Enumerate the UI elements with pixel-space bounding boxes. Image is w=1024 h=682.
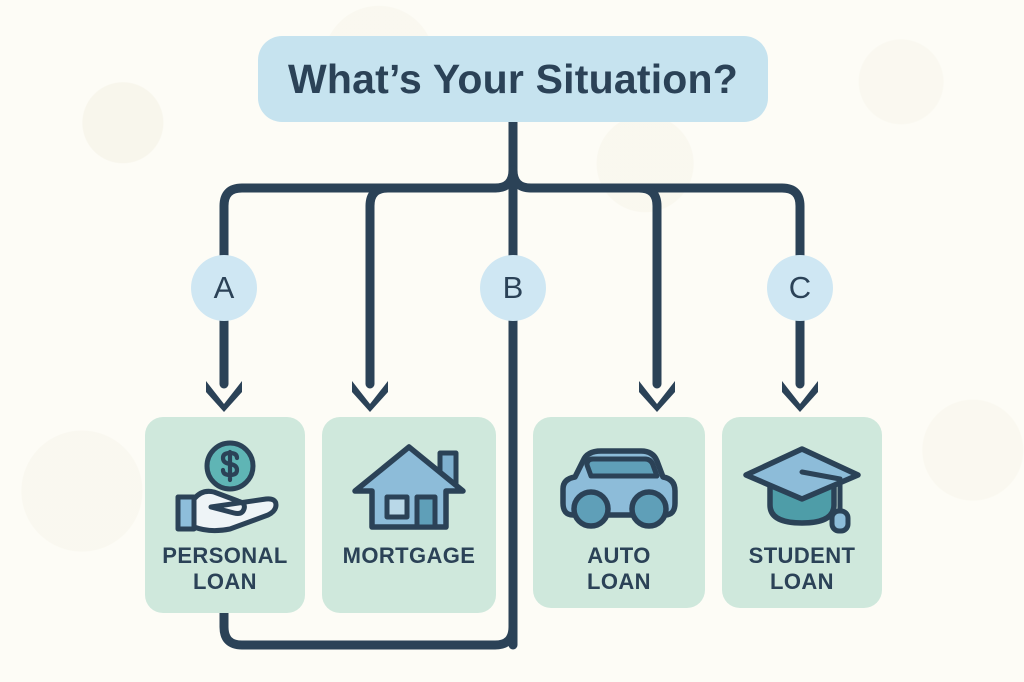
branch-badge-b[interactable]: B — [480, 255, 546, 321]
option-card-mortgage[interactable]: MORTGAGE — [322, 417, 496, 613]
title-pill: What’s Your Situation? — [258, 36, 768, 122]
option-card-personal-loan[interactable]: PERSONAL LOAN — [145, 417, 305, 613]
branch-badge-b-label: B — [503, 270, 524, 306]
option-card-student-loan[interactable]: STUDENT LOAN — [722, 417, 882, 608]
branch-auto — [531, 188, 657, 384]
diagram-canvas: What’s Your Situation? A B C PERSONAL LO… — [0, 0, 1024, 682]
house-icon — [350, 439, 468, 535]
car-icon — [557, 439, 681, 535]
branch-badge-c[interactable]: C — [767, 255, 833, 321]
feedback-loop — [224, 612, 513, 645]
option-card-auto-loan[interactable]: AUTO LOAN — [533, 417, 705, 608]
option-card-mortgage-label: MORTGAGE — [343, 543, 476, 569]
branch-badge-a[interactable]: A — [191, 255, 257, 321]
graduation-cap-icon — [740, 439, 864, 535]
branch-badge-c-label: C — [789, 270, 811, 306]
branch-mortgage — [370, 188, 495, 384]
branch-badge-a-label: A — [214, 270, 235, 306]
page-title: What’s Your Situation? — [288, 56, 738, 103]
option-card-auto-loan-label: AUTO LOAN — [587, 543, 651, 594]
option-card-student-loan-label: STUDENT LOAN — [749, 543, 856, 594]
hand-holding-coin-icon — [166, 439, 284, 535]
option-card-personal-loan-label: PERSONAL LOAN — [162, 543, 287, 594]
